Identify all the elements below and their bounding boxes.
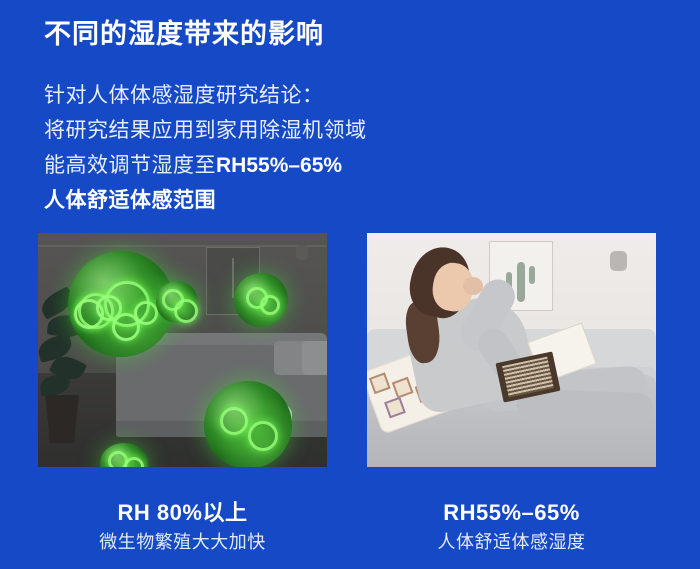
microbe-icon bbox=[204, 381, 292, 467]
intro-line-4: 人体舒适体感范围 bbox=[44, 183, 367, 218]
microbe-icon bbox=[234, 273, 288, 327]
cactus-icon bbox=[517, 262, 525, 302]
microbe-cluster-icon bbox=[74, 295, 154, 347]
caption-subtitle: 人体舒适体感湿度 bbox=[367, 528, 656, 556]
bright-room-scene bbox=[367, 233, 656, 467]
page-title: 不同的湿度带来的影响 bbox=[44, 18, 324, 52]
wall-fixture-icon bbox=[296, 245, 308, 260]
intro-paragraph: 针对人体体感湿度研究结论： 将研究结果应用到家用除湿机领域 能高效调节湿度至RH… bbox=[44, 78, 367, 218]
humidity-range-value: RH55%–65% bbox=[216, 154, 342, 177]
caption-title: RH55%–65% bbox=[367, 498, 656, 528]
humidity-infographic: 不同的湿度带来的影响 针对人体体感湿度研究结论： 将研究结果应用到家用除湿机领域… bbox=[0, 0, 700, 569]
caption-title: RH 80%以上 bbox=[38, 498, 327, 528]
photo-comfort-humidity bbox=[367, 233, 656, 467]
intro-line-1: 针对人体体感湿度研究结论： bbox=[44, 78, 367, 113]
intro-line-2: 将研究结果应用到家用除湿机领域 bbox=[44, 113, 367, 148]
caption-comfort-humidity: RH55%–65% 人体舒适体感湿度 bbox=[367, 498, 656, 556]
wall-molding bbox=[38, 245, 327, 247]
intro-line-3-prefix: 能高效调节湿度至 bbox=[44, 154, 216, 177]
caption-high-humidity: RH 80%以上 微生物繁殖大大加快 bbox=[38, 498, 327, 556]
intro-line-3: 能高效调节湿度至RH55%–65% bbox=[44, 148, 367, 183]
photo-high-humidity bbox=[38, 233, 327, 467]
sofa-cushion bbox=[302, 341, 327, 375]
microbe-icon bbox=[156, 281, 198, 323]
person-hand bbox=[463, 277, 483, 295]
dark-room-scene bbox=[38, 233, 327, 467]
wall-thermostat-icon bbox=[610, 251, 627, 271]
caption-subtitle: 微生物繁殖大大加快 bbox=[38, 528, 327, 556]
